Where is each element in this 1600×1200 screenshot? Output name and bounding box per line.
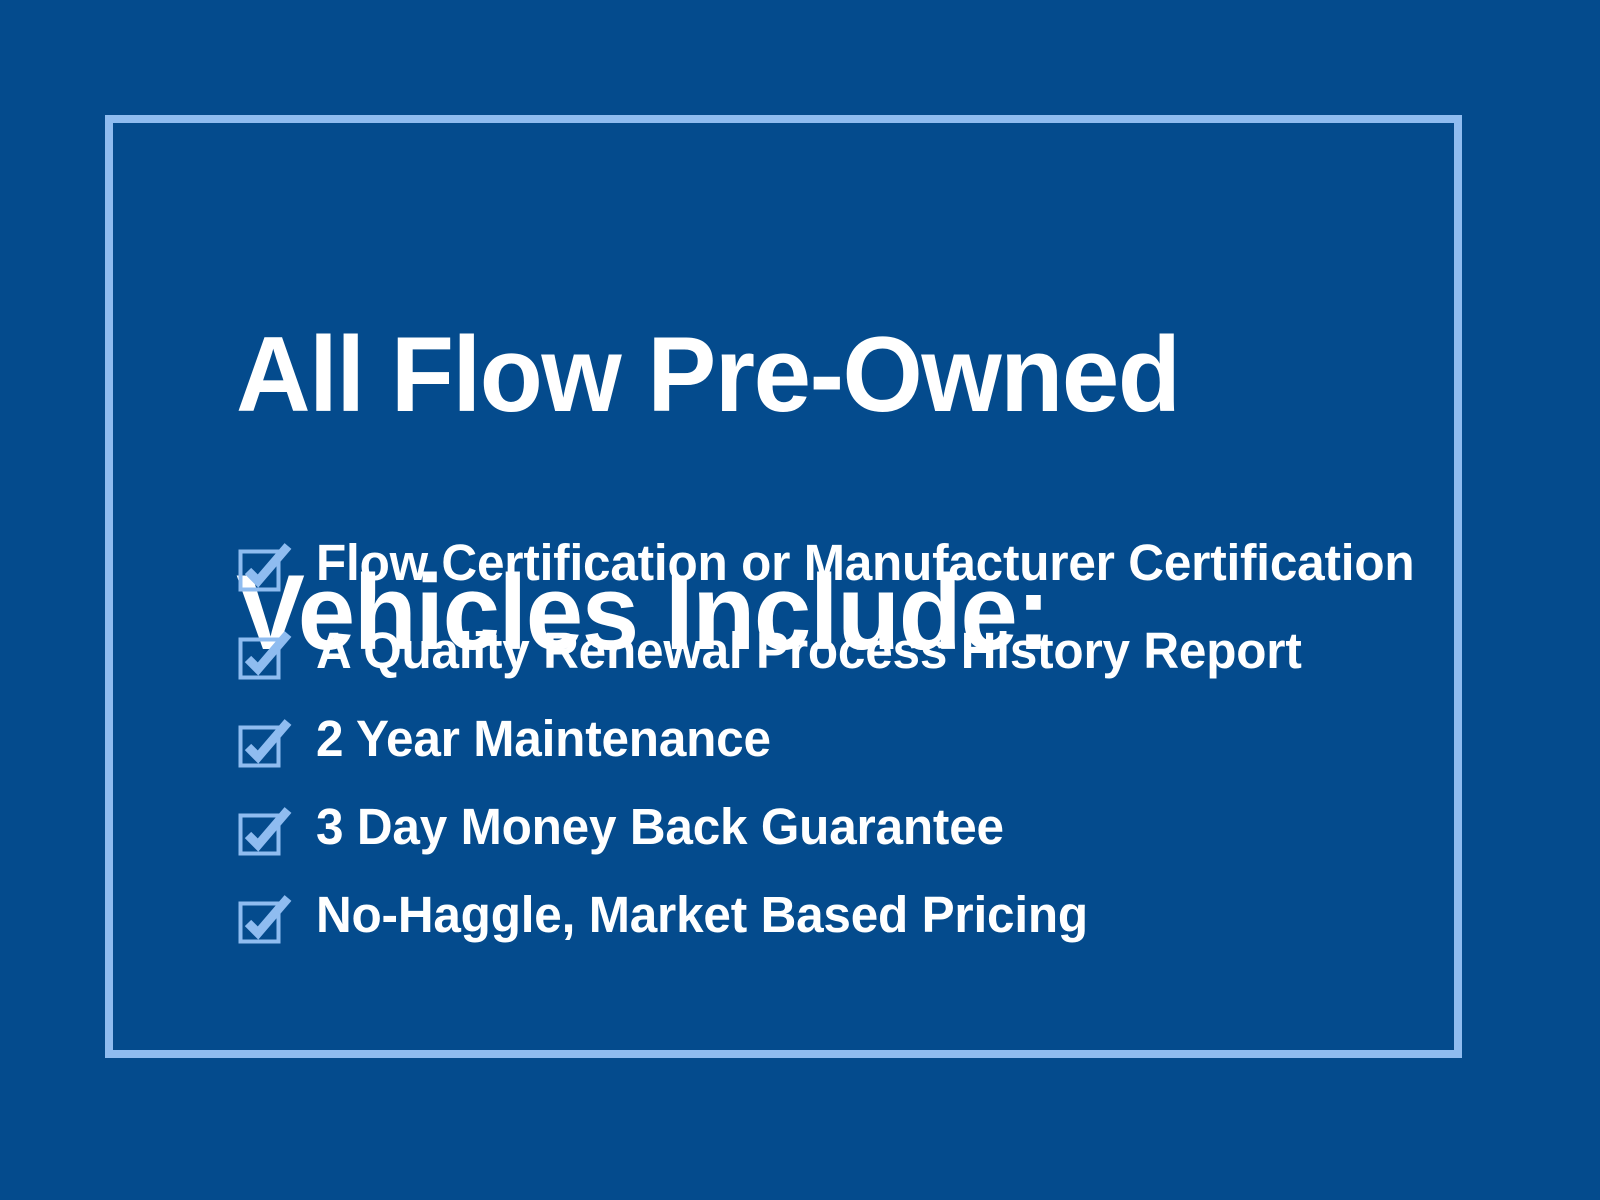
benefits-checklist: Flow Certification or Manufacturer Certi… bbox=[238, 528, 1438, 968]
list-item: 2 Year Maintenance bbox=[238, 704, 1438, 792]
promo-poster: All Flow Pre-Owned Vehicles Include: Flo… bbox=[0, 0, 1600, 1200]
list-item-label: 3 Day Money Back Guarantee bbox=[316, 792, 1404, 862]
checkbox-checked-icon bbox=[238, 630, 294, 682]
checkbox-checked-icon bbox=[238, 542, 294, 594]
checkbox-checked-icon bbox=[238, 718, 294, 770]
list-item-label: A Quality Renewal Process History Report bbox=[316, 616, 1404, 686]
list-item-label: 2 Year Maintenance bbox=[316, 704, 1404, 774]
list-item-label: Flow Certification or Manufacturer Certi… bbox=[316, 528, 1414, 598]
list-item: No-Haggle, Market Based Pricing bbox=[238, 880, 1438, 968]
checkbox-checked-icon bbox=[238, 806, 294, 858]
list-item: 3 Day Money Back Guarantee bbox=[238, 792, 1438, 880]
page-title-line-1: All Flow Pre-Owned bbox=[236, 315, 1298, 434]
list-item: Flow Certification or Manufacturer Certi… bbox=[238, 528, 1438, 616]
checkbox-checked-icon bbox=[238, 894, 294, 946]
list-item-label: No-Haggle, Market Based Pricing bbox=[316, 880, 1404, 950]
list-item: A Quality Renewal Process History Report bbox=[238, 616, 1438, 704]
